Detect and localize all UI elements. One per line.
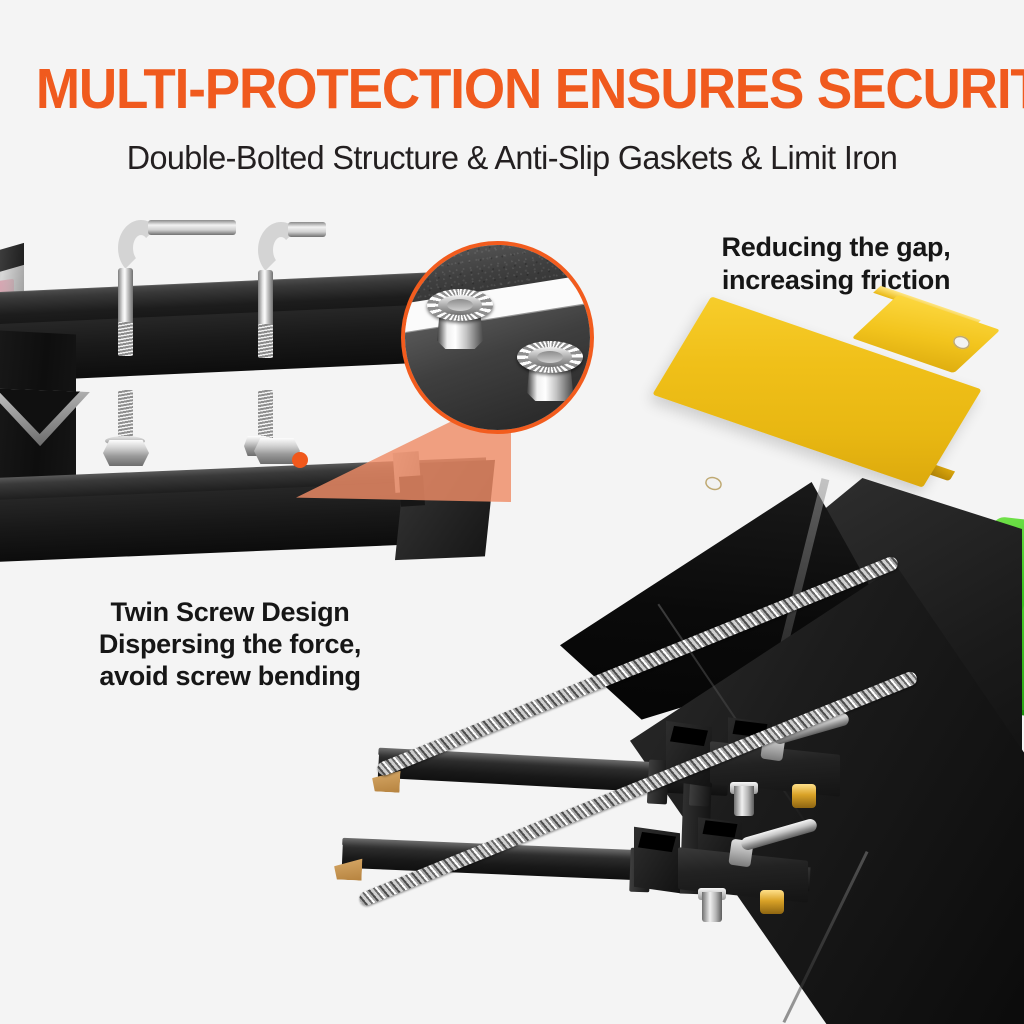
flange-nut-hole bbox=[447, 299, 473, 311]
flange-nut-hole bbox=[537, 351, 563, 363]
clamp-brass-fitting bbox=[792, 784, 816, 808]
j-bolt-arm bbox=[288, 222, 326, 237]
hex-nut-left bbox=[103, 440, 149, 466]
product-feature-graphic: MULTI-PROTECTION ENSURES SECURITY Double… bbox=[0, 0, 1024, 1024]
clamp-brass-fitting bbox=[760, 890, 784, 914]
j-bolt-thread bbox=[258, 324, 273, 358]
magnifier-circle bbox=[401, 241, 594, 434]
caption-line: Reducing the gap, bbox=[648, 231, 1024, 264]
bucket-and-forks-photo bbox=[330, 470, 1024, 1024]
clamp-bolt bbox=[702, 892, 722, 922]
page-title: MULTI-PROTECTION ENSURES SECURITY bbox=[36, 58, 988, 120]
callout-origin-dot bbox=[292, 452, 308, 468]
reducing-gap-caption: Reducing the gap, increasing friction bbox=[648, 231, 1024, 297]
j-bolt-thread bbox=[118, 322, 133, 356]
caption-line: increasing friction bbox=[648, 264, 1024, 297]
clamp-bolt bbox=[734, 786, 754, 816]
j-bolt-arm bbox=[148, 220, 236, 235]
page-subtitle: Double-Bolted Structure & Anti-Slip Gask… bbox=[10, 138, 1014, 178]
